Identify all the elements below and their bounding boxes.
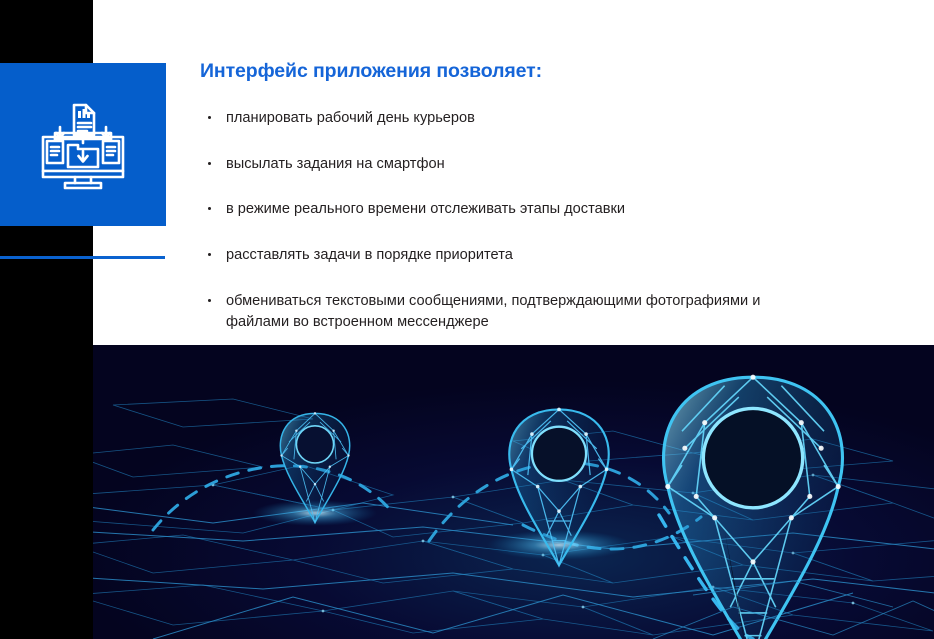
page-title: Интерфейс приложения позволяет: [200,60,820,83]
list-item: расставлять задачи в порядке приоритета [200,245,820,266]
bullet-dot-icon [208,299,211,302]
list-item-label: планировать рабочий день курьеров [226,110,475,126]
feature-list: планировать рабочий день курьеров высыла… [200,108,820,332]
bullet-dot-icon [208,207,211,210]
content-block: Интерфейс приложения позволяет: планиров… [200,60,820,332]
document-download-to-computer-icon [35,97,131,193]
list-item: в режиме реального времени отслеживать э… [200,199,820,220]
list-item: обмениваться текстовыми сообщениями, под… [200,291,820,332]
list-item-label: обмениваться текстовыми сообщениями, под… [226,293,760,330]
bullet-dot-icon [208,116,211,119]
hero-illustration [93,345,934,639]
list-item: высылать задания на смартфон [200,154,820,175]
list-item-label: расставлять задачи в порядке приоритета [226,247,513,263]
bullet-dot-icon [208,162,211,165]
accent-rule [0,256,165,259]
low-poly-wireframe-map-pins-network-icon [93,345,934,639]
list-item-label: высылать задания на смартфон [226,156,445,172]
bullet-dot-icon [208,253,211,256]
feature-icon-tile [0,63,166,226]
list-item: планировать рабочий день курьеров [200,108,820,129]
slide-canvas: Интерфейс приложения позволяет: планиров… [0,0,934,639]
list-item-label: в режиме реального времени отслеживать э… [226,201,625,217]
